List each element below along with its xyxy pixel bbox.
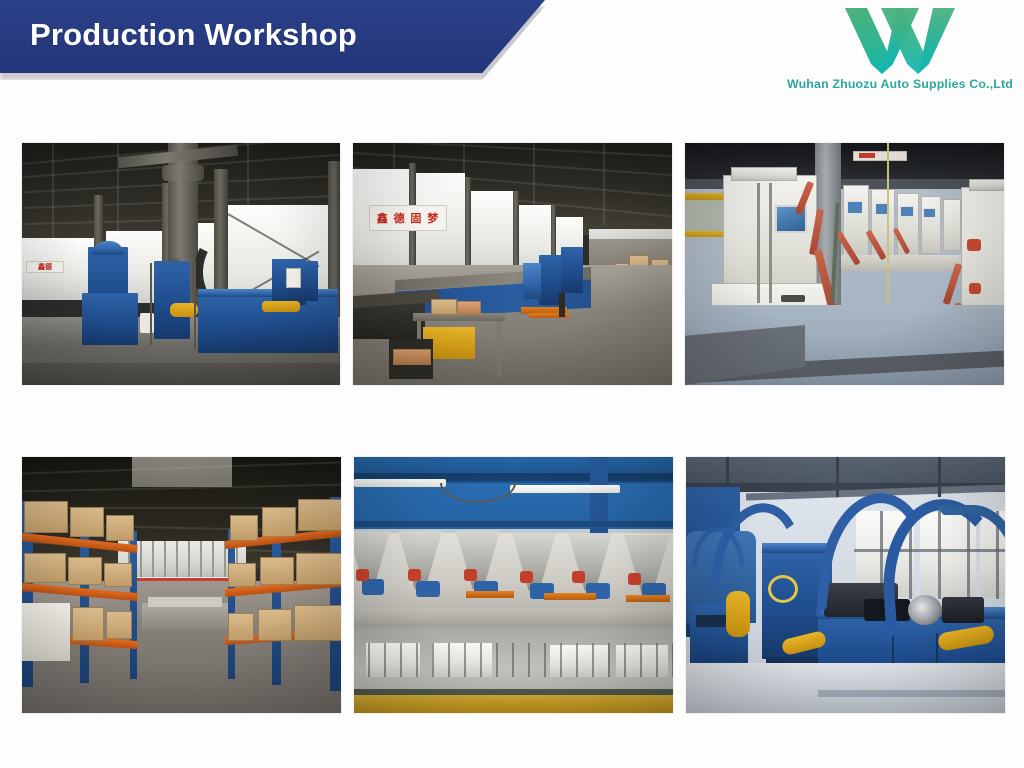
photo-warehouse-racking: 质量第一 · 客户至上 (22, 457, 341, 713)
photo-production-line: 鑫 德 固 梦 (353, 143, 672, 385)
w-monogram-icon (841, 2, 959, 76)
header-banner: Production Workshop (0, 0, 560, 74)
brand-logo: Wuhan Zhuozu Auto Supplies Co.,Ltd (784, 2, 1016, 106)
photo-overhead-hoppers (354, 457, 673, 713)
photo-gallery: 鑫德 (22, 143, 1006, 713)
photo-control-cabinets (685, 143, 1004, 385)
company-name: Wuhan Zhuozu Auto Supplies Co.,Ltd (787, 77, 1013, 91)
photo-factory-blasting-machines: 鑫德 (22, 143, 340, 385)
page-title: Production Workshop (30, 17, 357, 53)
photo-extruder-line (686, 457, 1005, 713)
photo-row-bottom: 质量第一 · 客户至上 (22, 457, 1006, 713)
photo-row-top: 鑫德 (22, 143, 1006, 385)
